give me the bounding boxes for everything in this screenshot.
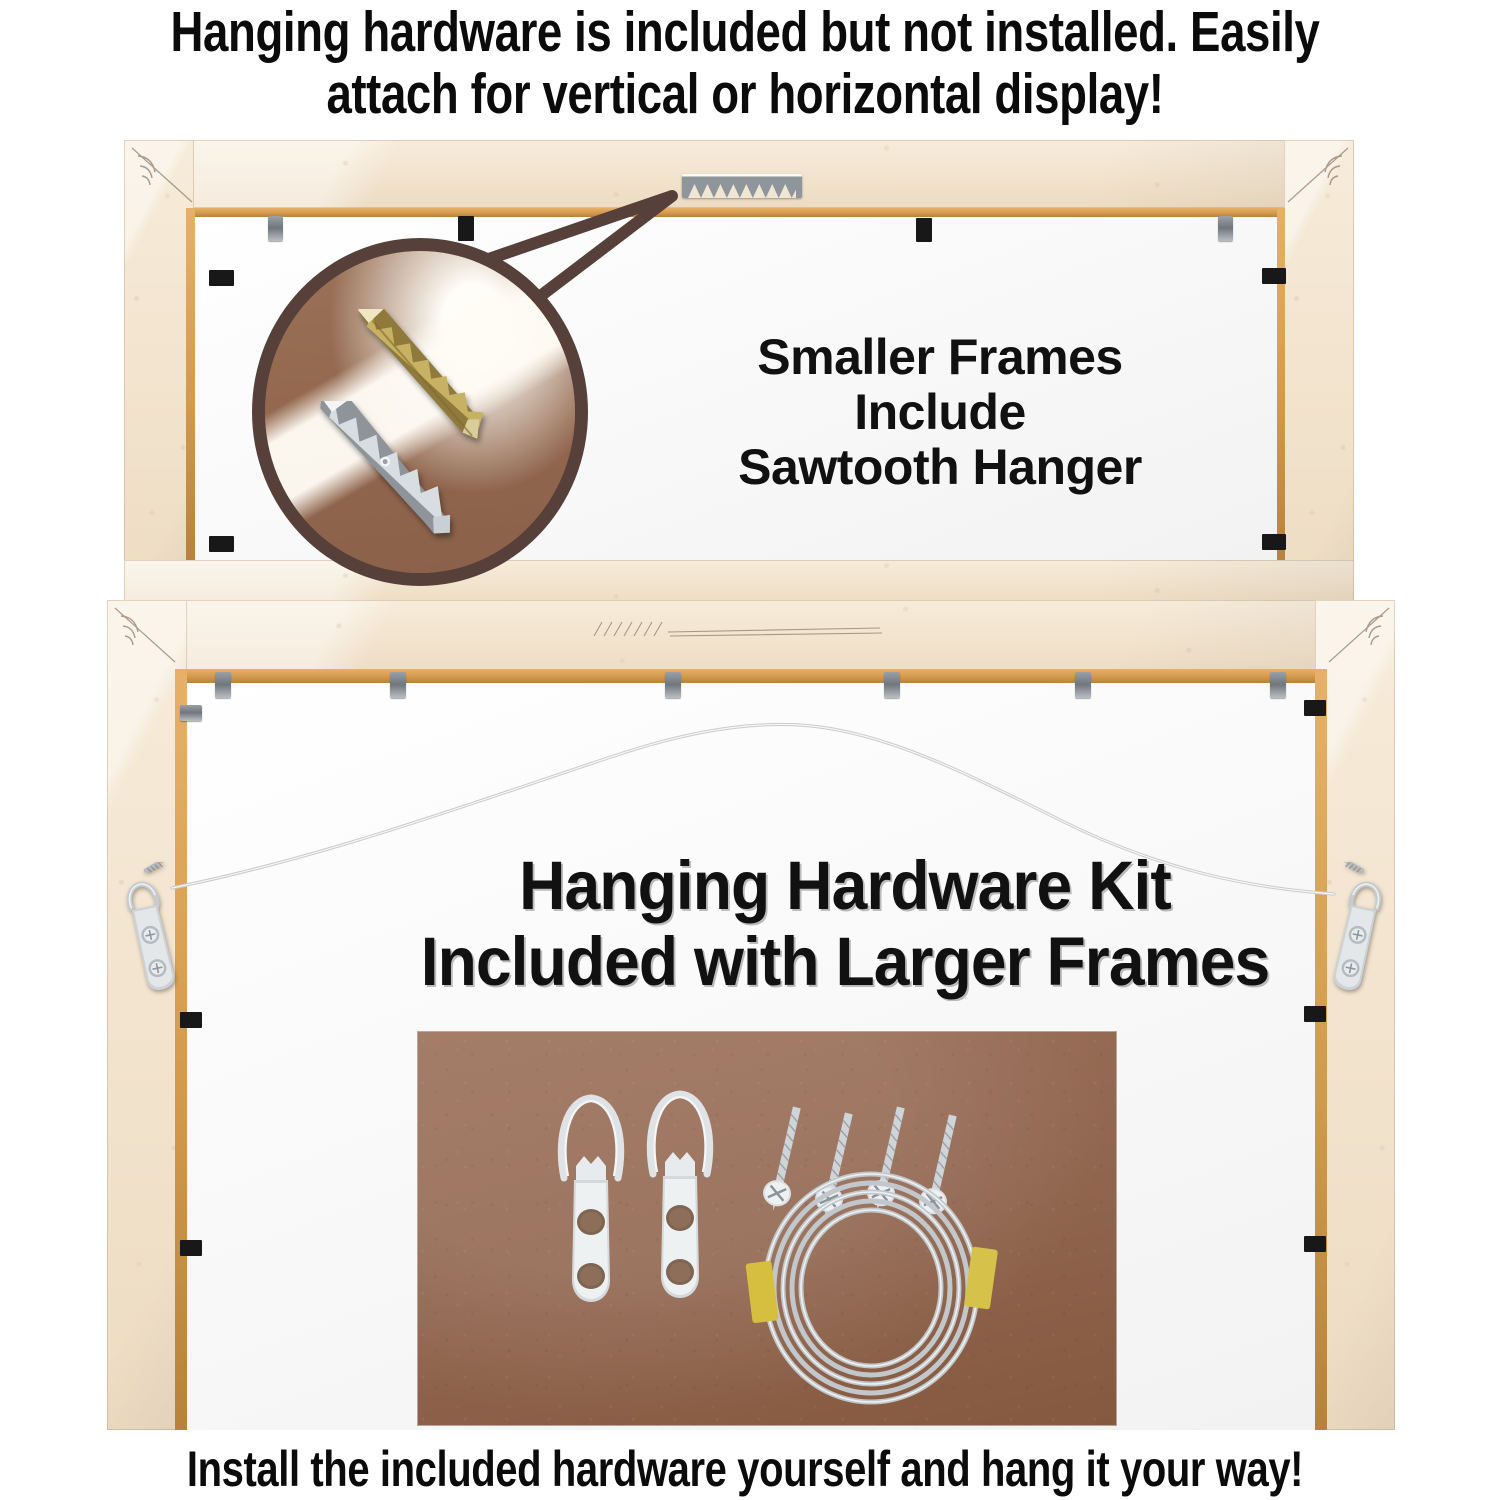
large-frame-inner-lip-right	[1315, 669, 1327, 1430]
product-infographic: Hanging hardware is included but not ins…	[0, 0, 1490, 1500]
turn-clip	[665, 672, 681, 698]
retaining-clip	[180, 1240, 202, 1256]
smaller-frames-text: Smaller Frames Include Sawtooth Hanger	[640, 330, 1240, 495]
small-frame-right-rail	[1284, 140, 1354, 606]
retaining-clip	[209, 270, 234, 286]
large-frame-inner-lip-left	[175, 669, 187, 1430]
headline-line-1: Hanging hardware is included but not ins…	[171, 0, 1320, 64]
smaller-frames-line-3: Sawtooth Hanger	[640, 440, 1240, 495]
footer-caption: Install the included hardware yourself a…	[149, 1442, 1341, 1496]
pencil-hatch-marks	[590, 618, 890, 642]
sawtooth-teeth	[688, 184, 796, 198]
small-frame-inner-lip-left	[186, 208, 195, 560]
retaining-clip	[916, 218, 932, 242]
retaining-clip	[1262, 534, 1286, 550]
retaining-clip	[1304, 700, 1326, 716]
turn-clip	[884, 672, 900, 698]
silver-sawtooth-hanger	[281, 401, 491, 541]
kit-d-ring-hanger	[546, 1084, 636, 1324]
smaller-frames-line-2: Include	[640, 385, 1240, 440]
large-frame-inner-lip-top	[187, 669, 1315, 683]
retaining-clip	[180, 1012, 202, 1028]
small-frame-left-rail	[124, 140, 194, 606]
hardware-kit-text: Hanging Hardware Kit Included with Large…	[296, 848, 1393, 1000]
sawtooth-callout-circle	[252, 238, 588, 586]
turn-clip	[1075, 672, 1091, 698]
retaining-clip	[1304, 1006, 1326, 1022]
sawtooth-hanger-icon	[682, 174, 802, 198]
turn-clip	[390, 672, 406, 698]
kit-coiled-wire	[736, 1162, 1006, 1414]
retaining-clip	[180, 705, 202, 721]
small-frame-inner-lip-right	[1277, 208, 1285, 560]
smaller-frames-line-1: Smaller Frames	[640, 330, 1240, 385]
turn-clip	[1270, 672, 1286, 698]
hardware-kit-line-1: Hanging Hardware Kit	[296, 848, 1393, 924]
turn-clip	[215, 672, 231, 698]
d-ring-hanger-left	[118, 862, 190, 994]
retaining-clip	[1304, 1236, 1326, 1252]
kit-d-ring-hanger	[635, 1080, 725, 1320]
headline-caption: Hanging hardware is included but not ins…	[149, 2, 1341, 125]
hanging-hardware-kit-photo	[418, 1032, 1116, 1425]
large-frame-right-rail	[1315, 600, 1395, 1430]
retaining-clip	[1262, 268, 1286, 284]
headline-line-2: attach for vertical or horizontal displa…	[149, 64, 1341, 126]
retaining-clip	[1218, 216, 1233, 241]
hardware-kit-line-2: Included with Larger Frames	[296, 924, 1393, 1000]
retaining-clip	[209, 536, 234, 552]
